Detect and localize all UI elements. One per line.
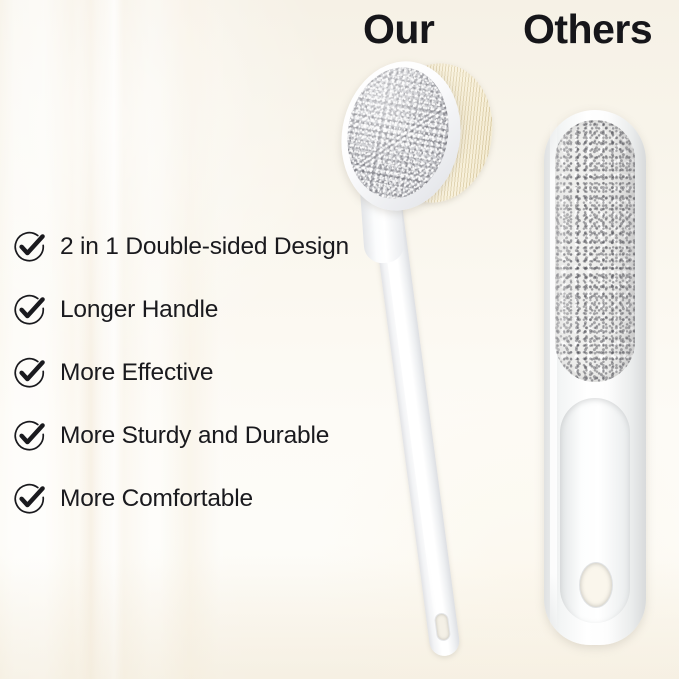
- feature-item: More Effective: [0, 341, 400, 404]
- check-circle-icon: [13, 293, 47, 327]
- check-circle-icon: [13, 482, 47, 516]
- feature-list: 2 in 1 Double-sided Design Longer Handle…: [0, 215, 400, 530]
- header-ours: Our: [363, 9, 434, 50]
- others-product-image: [536, 110, 666, 645]
- check-circle-icon: [13, 356, 47, 390]
- feature-item: More Sturdy and Durable: [0, 404, 400, 467]
- others-pumice-gloss: [555, 120, 635, 382]
- feature-label: Longer Handle: [60, 296, 218, 324]
- others-pumice-stone-pad: [555, 120, 635, 382]
- feature-item: More Comfortable: [0, 467, 400, 530]
- feature-label: 2 in 1 Double-sided Design: [60, 233, 349, 261]
- check-circle-icon: [13, 230, 47, 264]
- feature-label: More Sturdy and Durable: [60, 422, 329, 450]
- check-circle-icon: [13, 419, 47, 453]
- product-comparison-image: Our Others: [0, 0, 679, 679]
- feature-label: More Effective: [60, 359, 213, 387]
- our-handle-hang-hole: [435, 613, 450, 640]
- header-others: Others: [523, 9, 652, 50]
- feature-label: More Comfortable: [60, 485, 253, 513]
- feature-item: 2 in 1 Double-sided Design: [0, 215, 400, 278]
- feature-item: Longer Handle: [0, 278, 400, 341]
- others-handle-hang-hole: [580, 563, 612, 607]
